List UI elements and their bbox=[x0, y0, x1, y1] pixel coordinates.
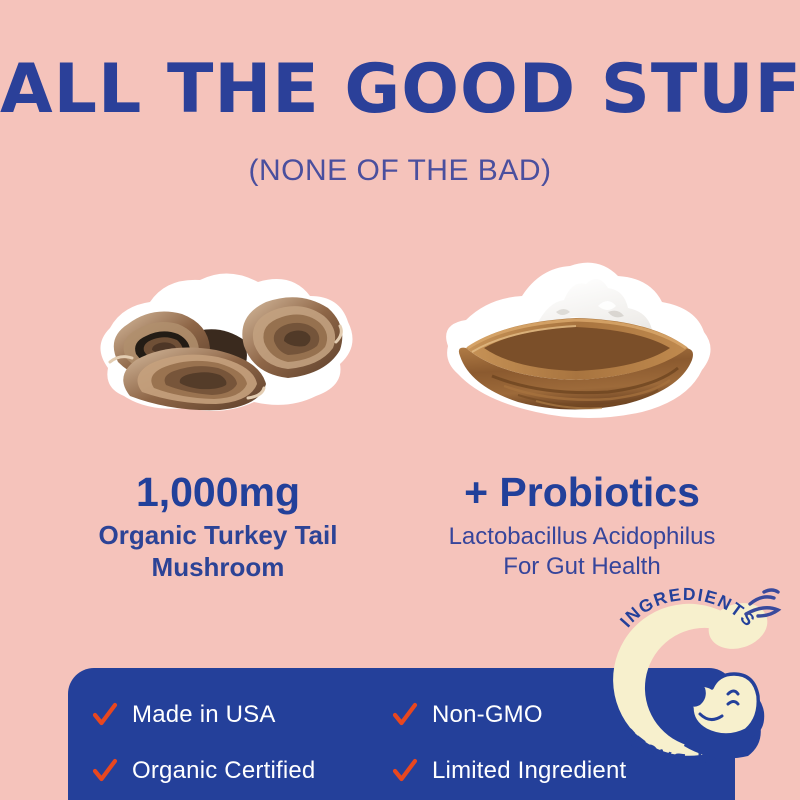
product-infographic: ALL THE GOOD STUFF (NONE OF THE BAD) bbox=[0, 0, 800, 800]
page-subtitle: (NONE OF THE BAD) bbox=[0, 156, 800, 186]
ingredient-description-line1: Lactobacillus Acidophilus bbox=[412, 522, 752, 552]
probiotic-powder-bowl-photo bbox=[412, 250, 752, 425]
dog-head-icon bbox=[684, 674, 764, 758]
check-icon bbox=[392, 758, 418, 784]
turkey-tail-mushroom-photo bbox=[48, 250, 388, 425]
ingredient-amount: + Probiotics bbox=[412, 471, 752, 514]
check-icon bbox=[92, 758, 118, 784]
ingredient-column-mushroom: 1,000mg Organic Turkey Tail Mushroom bbox=[48, 250, 388, 583]
claims-checklist: Made in USA Non-GMO Organic Certified Li… bbox=[92, 690, 652, 796]
claim-item-made-in-usa: Made in USA bbox=[92, 701, 392, 729]
check-icon bbox=[392, 702, 418, 728]
ingredient-amount: 1,000mg bbox=[48, 471, 388, 514]
ingredient-description-line1: Organic Turkey Tail bbox=[48, 520, 388, 552]
ingredient-description-line2: Mushroom bbox=[48, 552, 388, 584]
claim-label: Non-GMO bbox=[432, 701, 543, 729]
plant-based-badge: INGREDIENTS PLANT BASED bbox=[588, 578, 788, 778]
ingredient-description: Lactobacillus Acidophilus For Gut Health bbox=[412, 522, 752, 582]
ingredient-column-probiotics: + Probiotics Lactobacillus Acidophilus F… bbox=[412, 250, 752, 582]
check-icon bbox=[92, 702, 118, 728]
page-title: ALL THE GOOD STUFF bbox=[0, 56, 800, 124]
claim-label: Organic Certified bbox=[132, 757, 315, 785]
ingredient-description: Organic Turkey Tail Mushroom bbox=[48, 520, 388, 583]
claim-item-organic-certified: Organic Certified bbox=[92, 757, 392, 785]
claim-label: Made in USA bbox=[132, 701, 276, 729]
